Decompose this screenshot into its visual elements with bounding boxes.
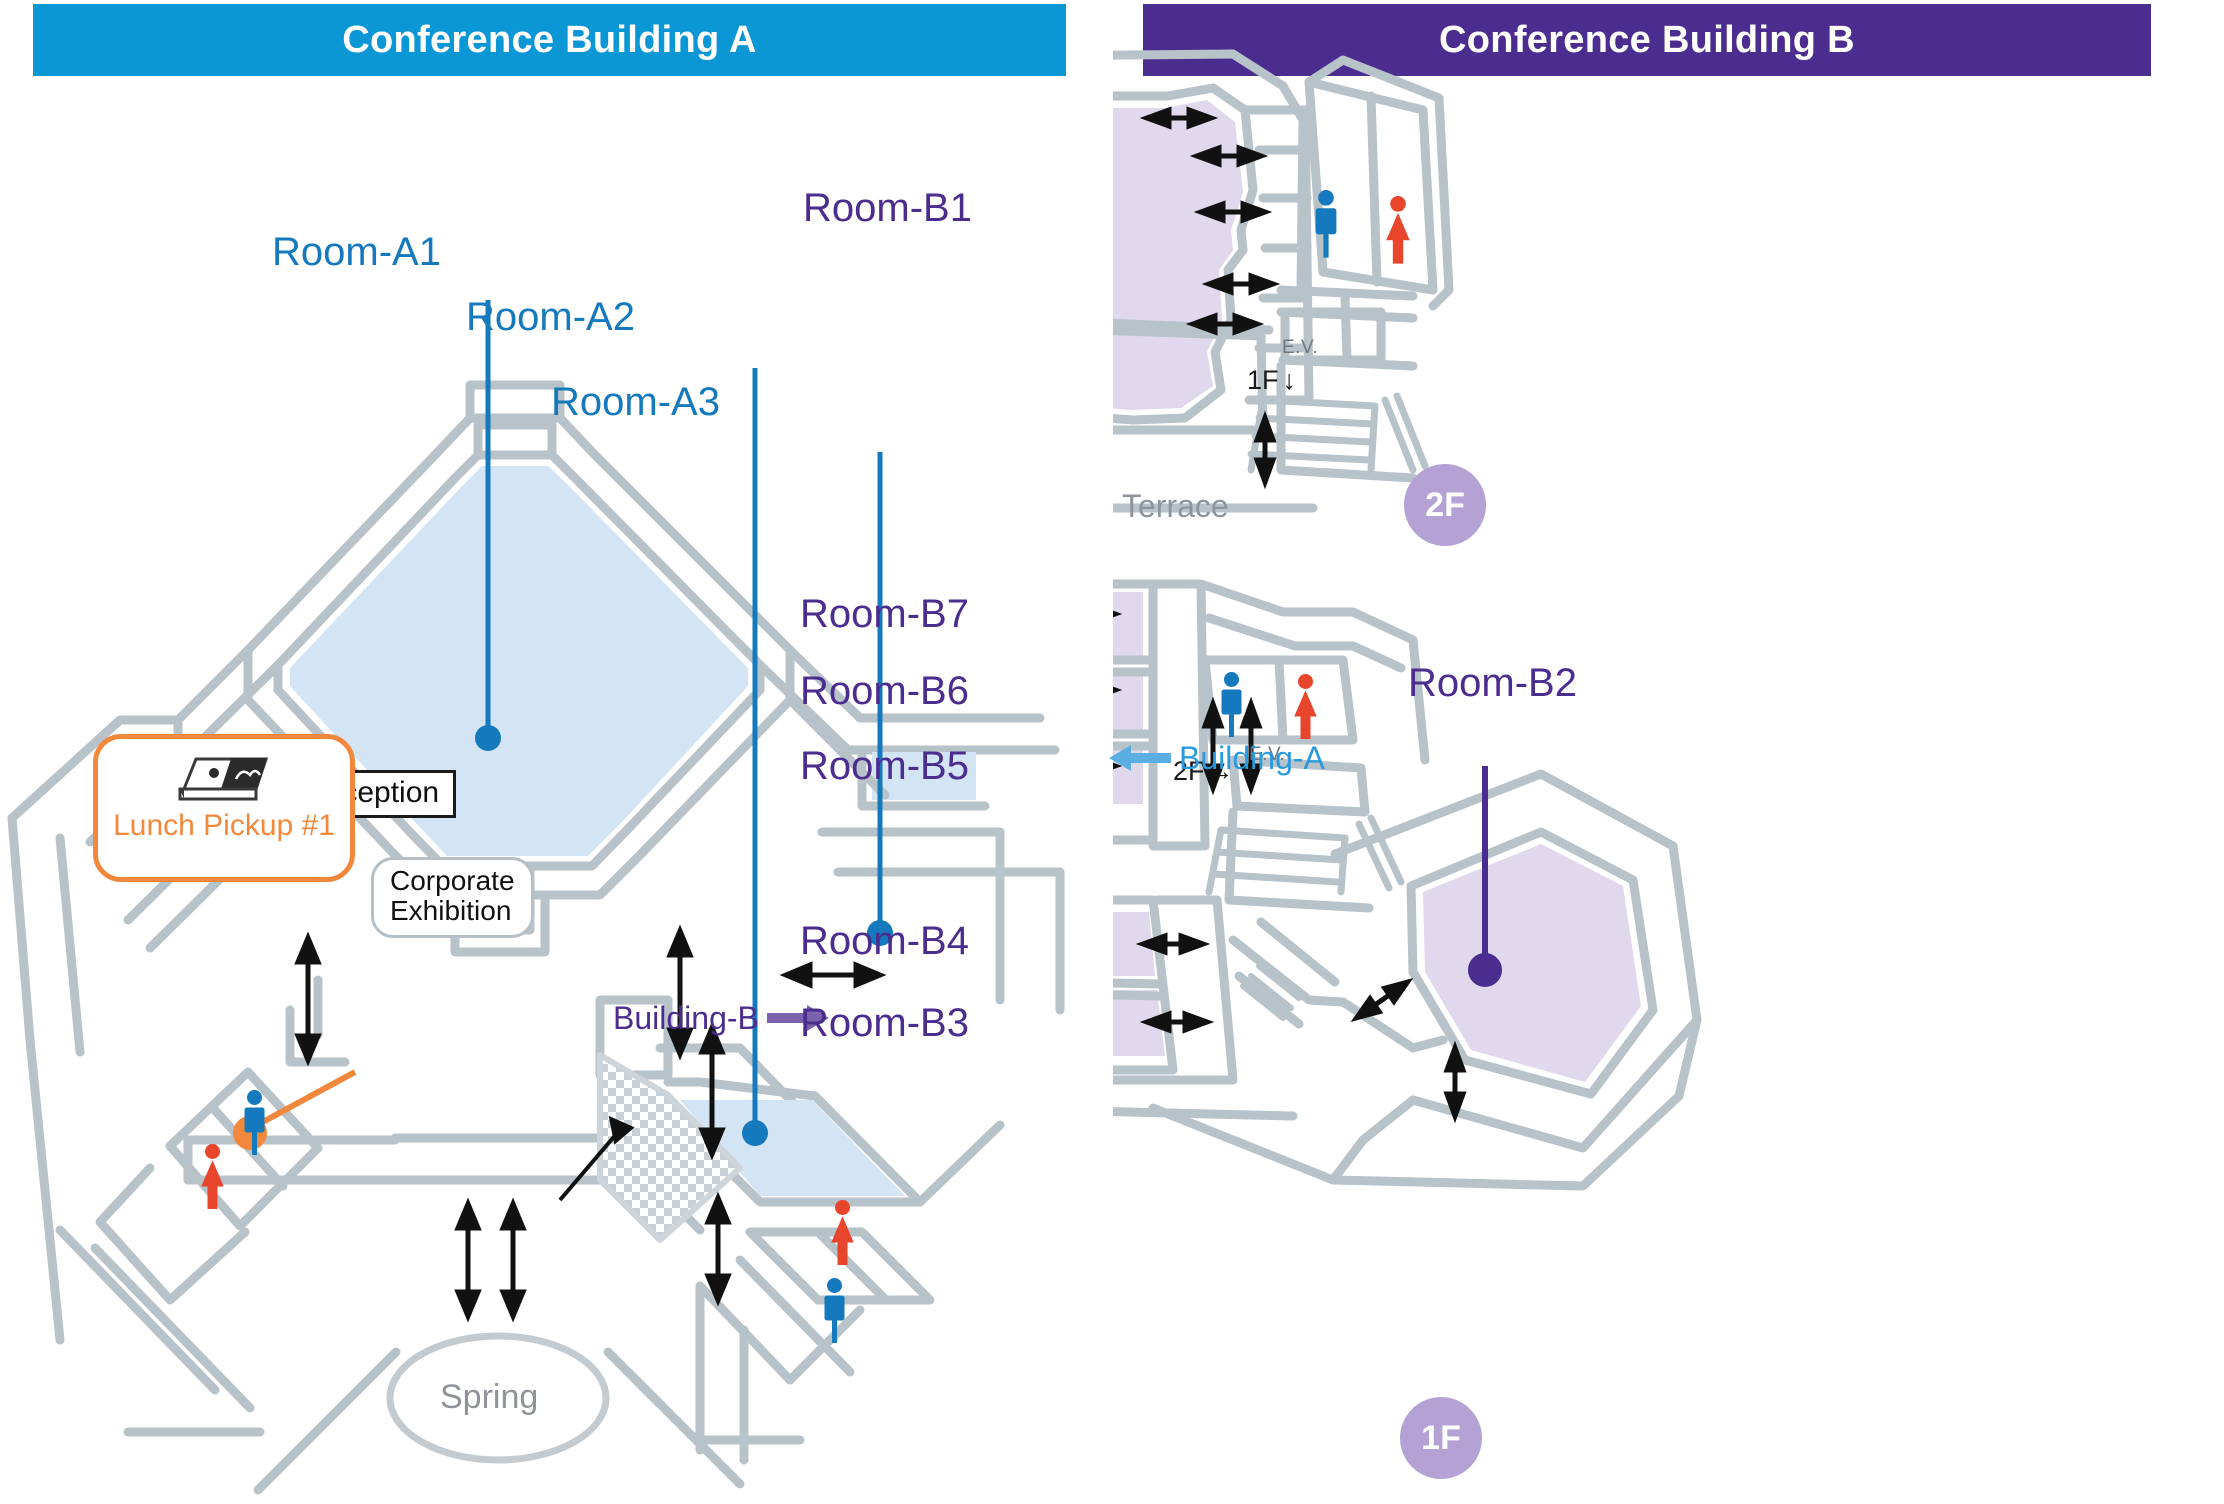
plaza-edge-left xyxy=(258,1352,396,1490)
corporate-exhibition-line2: Exhibition xyxy=(390,896,515,926)
plaza-edge-right xyxy=(608,1352,740,1484)
elevator-2f-label: E.V. xyxy=(1282,338,1318,357)
room-b4-label[interactable]: Room-B4 xyxy=(800,921,969,961)
room-b3-label[interactable]: Room-B3 xyxy=(800,1003,969,1043)
west-wing-inner xyxy=(60,838,80,1052)
door-arrow-east-horizontal xyxy=(786,965,880,985)
b-1f-diag-stair-treads xyxy=(1243,966,1299,1018)
floor-badge-2f: 2F xyxy=(1404,464,1486,546)
b-1f-ne-wing xyxy=(1201,584,1353,612)
b-2f-restroom-divider xyxy=(1371,96,1377,282)
b-2f-door-arrow-stair xyxy=(1257,418,1273,482)
b-1f-door-arrow-east-1 xyxy=(1352,976,1412,1025)
door-arrow-bottom-2 xyxy=(503,1204,523,1316)
womens-restroom-icon xyxy=(1386,196,1409,264)
room-a2-label[interactable]: Room-A2 xyxy=(466,297,635,337)
room-b7-label[interactable]: Room-B7 xyxy=(800,594,969,634)
bento-box-icon xyxy=(170,749,278,807)
arrow-down-icon: ↓ xyxy=(1283,367,1297,394)
b-1f-door-arrow-b4-right xyxy=(1143,936,1203,952)
b-1f-east-outer-2 xyxy=(1333,1100,1413,1180)
b-1f-door-arrow-b3-right xyxy=(1147,1014,1207,1030)
b-2f-outer-east xyxy=(1283,86,1303,290)
b-2f-ev-bottom xyxy=(1283,360,1413,366)
stair-to-1f-text: 1F xyxy=(1247,367,1279,394)
b-1f-bottom-edge xyxy=(1113,1108,1293,1116)
lunch-pickup-callout[interactable]: Lunch Pickup #1 xyxy=(93,734,355,882)
room-b7-floor xyxy=(1113,592,1143,656)
b-1f-stack-right-corridor xyxy=(1153,584,1205,846)
west-diagonal-1 xyxy=(60,1230,215,1390)
wayfinding-to-building-a-label: Building-A xyxy=(1179,742,1325,774)
room-b1-floor xyxy=(1113,100,1243,410)
west-diagonal-2 xyxy=(95,1248,250,1408)
building-b-panel: Conference Building B xyxy=(1113,0,2224,1504)
hall-a1-north-entry xyxy=(470,385,560,418)
room-a1-label[interactable]: Room-A1 xyxy=(272,232,441,272)
stair-to-1f-label: 1F ↓ xyxy=(1247,367,1296,394)
room-b6-label[interactable]: Room-B6 xyxy=(800,671,969,711)
floor-badge-1f: 1F xyxy=(1400,1397,1482,1479)
room-b2-dot xyxy=(1471,956,1499,984)
corporate-exhibition-callout[interactable]: Corporate Exhibition xyxy=(371,857,534,938)
wayfinding-to-building-b-label: Building-B xyxy=(613,1002,759,1034)
b-2f-door-arrow-4 xyxy=(1209,276,1273,292)
b-1f-door-arrow-east-2 xyxy=(1447,1048,1463,1116)
b-1f-ne-wing-2 xyxy=(1209,618,1353,646)
room-b5-label[interactable]: Room-B5 xyxy=(800,746,969,786)
room-b1-label[interactable]: Room-B1 xyxy=(803,188,972,228)
arrow-left-icon xyxy=(1107,743,1171,773)
b-1f-ne-outer-2 xyxy=(1353,646,1401,668)
wayfinding-to-building-b[interactable]: Building-B xyxy=(613,1002,831,1034)
room-b6-floor xyxy=(1113,668,1143,730)
b-2f-outer-north xyxy=(1113,54,1283,88)
corporate-exhibition-line1: Corporate xyxy=(390,866,515,896)
room-a1-dot xyxy=(475,725,501,751)
b-1f-stairs xyxy=(1209,818,1401,892)
b-1f-restroom-1f-div xyxy=(1279,660,1283,740)
b-1f-diag-corridor-3 xyxy=(1343,1002,1443,1048)
west-wing-outer-3 xyxy=(30,1040,60,1340)
wayfinding-to-building-a[interactable]: Building-A xyxy=(1107,742,1325,774)
floorplan-page: Conference Building A xyxy=(0,0,2224,1504)
room-divider-43b xyxy=(1113,992,1161,996)
b-1f-east-outer-3 xyxy=(1333,1096,1679,1186)
door-arrow-bottom-1 xyxy=(458,1204,478,1316)
mens-restroom-icon xyxy=(1222,672,1242,737)
room-b2-label[interactable]: Room-B2 xyxy=(1408,663,1577,703)
spring-label: Spring xyxy=(440,1378,538,1417)
terrace-label: Terrace xyxy=(1122,490,1229,522)
lunch-pickup-label: Lunch Pickup #1 xyxy=(113,811,335,841)
room-divider-43 xyxy=(1113,980,1159,984)
door-arrow-lower-right xyxy=(708,1198,728,1300)
b-2f-ev-div xyxy=(1345,296,1347,360)
door-arrow-center-2 xyxy=(702,1028,722,1154)
room-a3-label[interactable]: Room-A3 xyxy=(551,382,720,422)
womens-restroom-icon xyxy=(1294,674,1317,739)
west-wing-outer-2 xyxy=(12,818,30,1040)
room-a2-dot xyxy=(742,1120,768,1146)
room-a2-right-wall xyxy=(920,1125,1000,1202)
